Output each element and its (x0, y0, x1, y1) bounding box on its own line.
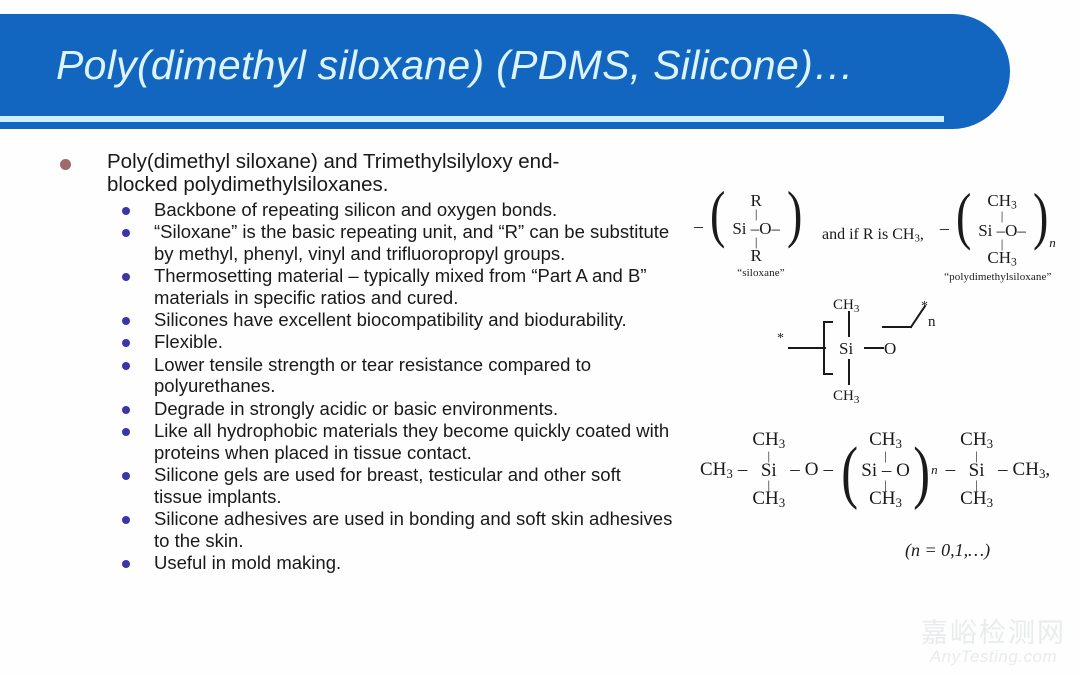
methyl-subscript: 3 (1011, 199, 1017, 212)
figure-note-n-values: (n = 0,1,…) (905, 540, 990, 561)
oxygen-atom-label: O (805, 459, 819, 481)
methyl-subscript: 3 (726, 465, 732, 480)
methyl-base: CH (869, 488, 895, 509)
methyl-base: CH (752, 488, 778, 509)
list-item: Degrade in strongly acidic or basic envi… (0, 398, 700, 419)
methyl-group-top: CH3 (987, 191, 1016, 210)
pdms-stack: CH3 | Si –O– | CH3 (978, 192, 1026, 269)
list-item-text: Silicone adhesives are used in bonding a… (154, 508, 674, 551)
siloxane-stack: R | Si –O– | R (732, 192, 780, 265)
list-item-text: Thermosetting material – typically mixed… (154, 265, 674, 308)
connector-text-main: and if R is CH (822, 226, 914, 243)
oxygen-atom-label: O (884, 339, 896, 358)
repeat-subscript-n: n (1049, 235, 1056, 251)
list-item-text: Lower tensile strength or tear resistanc… (154, 354, 674, 397)
watermark-chinese-text: 嘉峪检测网 (921, 619, 1066, 647)
oxygen-atom-label: O (896, 460, 910, 481)
bullet-dot-level2-icon (122, 229, 130, 237)
list-item-text: Backbone of repeating silicon and oxygen… (154, 199, 557, 220)
trailing-comma: , (1045, 459, 1050, 480)
chemical-structure-siloxane-repeat-units: – ( R | Si –O– | R ) “siloxane” and if R… (694, 192, 1080, 292)
bullet-dot-level2-icon (122, 273, 130, 281)
methyl-bottom-label: CH3 (833, 388, 860, 406)
methyl-base: CH (700, 459, 726, 480)
pdms-skeleton-svg: * * Si O CH3 CH3 n (775, 292, 990, 407)
methyl-subscript: 3 (779, 495, 785, 510)
figure-caption-siloxane: “siloxane” (708, 267, 814, 279)
list-item: Lower tensile strength or tear resistanc… (0, 354, 700, 397)
bullet-list: Poly(dimethyl siloxane) and Trimethylsil… (0, 150, 700, 574)
list-item: “Siloxane” is the basic repeating unit, … (0, 221, 700, 264)
methyl-subscript: 3 (896, 495, 902, 510)
list-item-text: Silicone gels are used for breast, testi… (154, 464, 674, 507)
bullet-dot-level2-icon (122, 339, 130, 347)
methyl-subscript: 3 (1011, 256, 1017, 269)
list-item-text: Like all hydrophobic materials they beco… (154, 420, 674, 463)
bullet-dot-level2-icon (122, 428, 130, 436)
terminal-methyl-left: CH3 (700, 459, 733, 482)
list-item: Like all hydrophobic materials they beco… (0, 420, 700, 463)
leading-bond-dash: – (940, 218, 949, 238)
siloxane-repeat-unit: – ( R | Si –O– | R ) “siloxane” (694, 192, 814, 279)
list-item: Silicones have excellent biocompatibilit… (0, 309, 700, 330)
watermark: 嘉峪检测网 AnyTesting.com (921, 619, 1066, 667)
list-item-text: Silicones have excellent biocompatibilit… (154, 309, 627, 330)
list-item: Flexible. (0, 331, 700, 352)
list-item-text: Flexible. (154, 331, 223, 352)
bullet-dot-level2-icon (122, 207, 130, 215)
silicon-atom-label: Si (861, 460, 877, 481)
bullet-dot-level2-icon (122, 516, 130, 524)
repeat-n-label: n (928, 314, 936, 330)
methyl-top-label: CH3 (833, 297, 860, 315)
methyl-below: CH3 (861, 489, 910, 510)
bond-dash: – (790, 459, 800, 481)
bond-dash: – (738, 459, 748, 481)
methyl-base: CH (987, 248, 1011, 267)
list-item-text: “Siloxane” is the basic repeating unit, … (154, 221, 674, 264)
methyl-base: CH (752, 429, 778, 450)
bullet-dot-level2-icon (122, 362, 130, 370)
methyl-base: CH (869, 429, 895, 450)
list-item: Poly(dimethyl siloxane) and Trimethylsil… (0, 150, 700, 197)
methyl-subscript: 3 (987, 495, 993, 510)
star-right-label: * (921, 299, 928, 314)
bullet-dot-level2-icon (122, 406, 130, 414)
connector-comma: , (920, 226, 924, 243)
figure-caption-pdms: “polydimethylsiloxane” (940, 271, 1056, 283)
bond-dash: – (823, 459, 833, 481)
list-item-text: Degrade in strongly acidic or basic envi… (154, 398, 558, 419)
methyl-below: CH3 (960, 489, 993, 510)
slide-title-bar: Poly(dimethyl siloxane) (PDMS, Silicone)… (0, 14, 1010, 129)
methyl-base: CH (987, 191, 1011, 210)
list-item: Thermosetting material – typically mixed… (0, 265, 700, 308)
methyl-base: CH (960, 429, 986, 450)
list-item: Useful in mold making. (0, 552, 700, 573)
chemical-structure-pdms-skeleton: * * Si O CH3 CH3 n (775, 292, 990, 412)
bullet-dot-level2-icon (122, 317, 130, 325)
list-item: Silicone adhesives are used in bonding a… (0, 508, 700, 551)
list-item: Backbone of repeating silicon and oxygen… (0, 199, 700, 220)
page-title: Poly(dimethyl siloxane) (PDMS, Silicone)… (56, 42, 854, 89)
bond-dash: – (946, 459, 956, 481)
methyl-group-bottom: CH3 (987, 248, 1016, 267)
watermark-english-text: AnyTesting.com (921, 647, 1066, 667)
bullet-dot-level2-icon (122, 472, 130, 480)
terminal-methyl-right: CH3, (1013, 459, 1051, 482)
connector-text: and if R is CH3, (822, 226, 924, 244)
silicon-center-left: CH3 | Si | CH3 (752, 430, 785, 510)
list-item-text: Useful in mold making. (154, 552, 341, 573)
r-group-bottom: R (751, 246, 762, 265)
bond-dash: – (998, 459, 1008, 481)
methyl-subscript: 3 (779, 436, 785, 451)
methyl-subscript: 3 (987, 436, 993, 451)
polydimethylsiloxane-repeat-unit: – ( CH3 | Si –O– | CH3 )n “polydimethyls… (940, 192, 1056, 283)
methyl-below: CH3 (752, 489, 785, 510)
title-underline-rule (0, 116, 944, 122)
bullet-dot-level2-icon (122, 560, 130, 568)
methyl-subscript: 3 (896, 436, 902, 451)
star-left-label: * (777, 331, 784, 346)
silicon-atom-label: Si (839, 339, 853, 358)
repeat-subscript-n: n (931, 462, 938, 478)
methyl-base: CH (1013, 459, 1039, 480)
list-item-text: Poly(dimethyl siloxane) and Trimethylsil… (107, 150, 607, 197)
repeat-unit-stack: CH3 | Si – O | CH3 (861, 430, 910, 510)
methyl-base: CH (960, 488, 986, 509)
silicon-center-right: CH3 | Si | CH3 (960, 430, 993, 510)
list-item: Silicone gels are used for breast, testi… (0, 464, 700, 507)
leading-bond-dash: – (694, 216, 703, 236)
bullet-dot-level1-icon (60, 159, 71, 170)
chemical-formula-pdms-full-chain: CH3 – CH3 | Si | CH3 – O – ( CH3 | Si – … (700, 430, 1080, 510)
